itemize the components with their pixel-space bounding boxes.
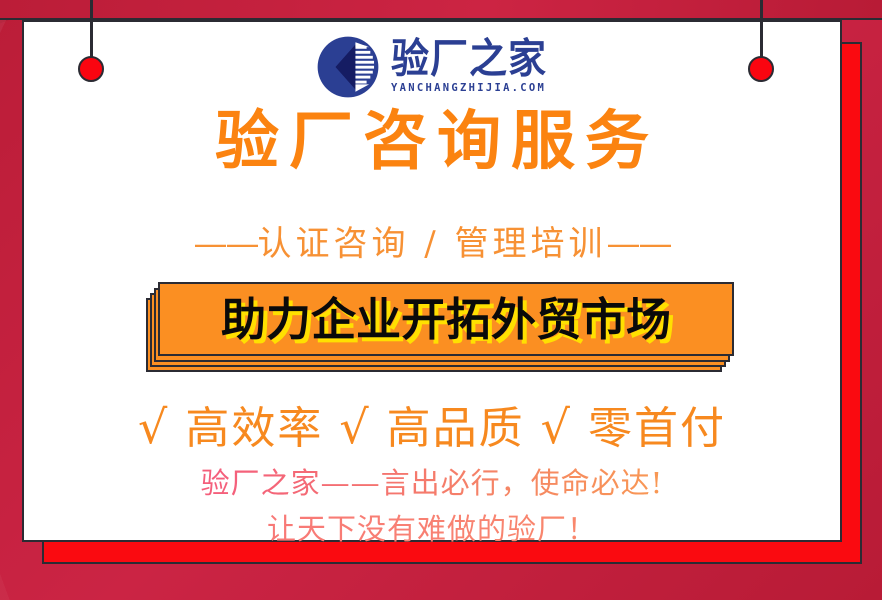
company-circle-logo-icon xyxy=(317,36,379,98)
subtitle-text: 认证咨询 / 管理培训 xyxy=(257,224,606,264)
benefits-line: √ 高效率 √ 高品质 √ 零首付 xyxy=(22,392,842,456)
tagline-primary: 验厂之家——言出必行，使命必达! xyxy=(22,460,842,502)
banner-front-plate: 助力企业开拓外贸市场 xyxy=(158,282,734,356)
banner-text: 助力企业开拓外贸市场 xyxy=(221,297,671,342)
poster-content: 验厂之家 YANCHANGZHIJIA.COM 验厂咨询服务 ——认证咨询 / … xyxy=(22,20,842,542)
subtitle-rule-left: —— xyxy=(193,224,257,264)
page-title: 验厂咨询服务 xyxy=(22,108,842,177)
brand-wordmark: 验厂之家 YANCHANGZHIJIA.COM xyxy=(391,41,547,94)
check-icon-1: √ xyxy=(138,400,169,454)
subtitle-line: ——认证咨询 / 管理培训—— xyxy=(22,216,842,265)
tagline-secondary: 让天下没有难做的验厂！ xyxy=(22,506,842,548)
top-crimson-band xyxy=(0,0,882,20)
check-icon-3: √ xyxy=(541,400,572,454)
subtitle-rule-right: —— xyxy=(607,224,671,264)
brand-name-cn: 验厂之家 xyxy=(391,38,547,79)
check-icon-2: √ xyxy=(339,400,370,454)
benefit-item-3: 零首付 xyxy=(588,403,726,454)
benefit-item-2: 高品质 xyxy=(387,403,525,454)
poster-canvas: 验厂之家 YANCHANGZHIJIA.COM 验厂咨询服务 ——认证咨询 / … xyxy=(0,0,882,600)
brand-logo-row: 验厂之家 YANCHANGZHIJIA.COM xyxy=(22,36,842,98)
benefit-item-1: 高效率 xyxy=(185,403,323,454)
highlight-banner: 助力企业开拓外贸市场 xyxy=(22,276,842,380)
brand-domain: YANCHANGZHIJIA.COM xyxy=(391,83,546,94)
